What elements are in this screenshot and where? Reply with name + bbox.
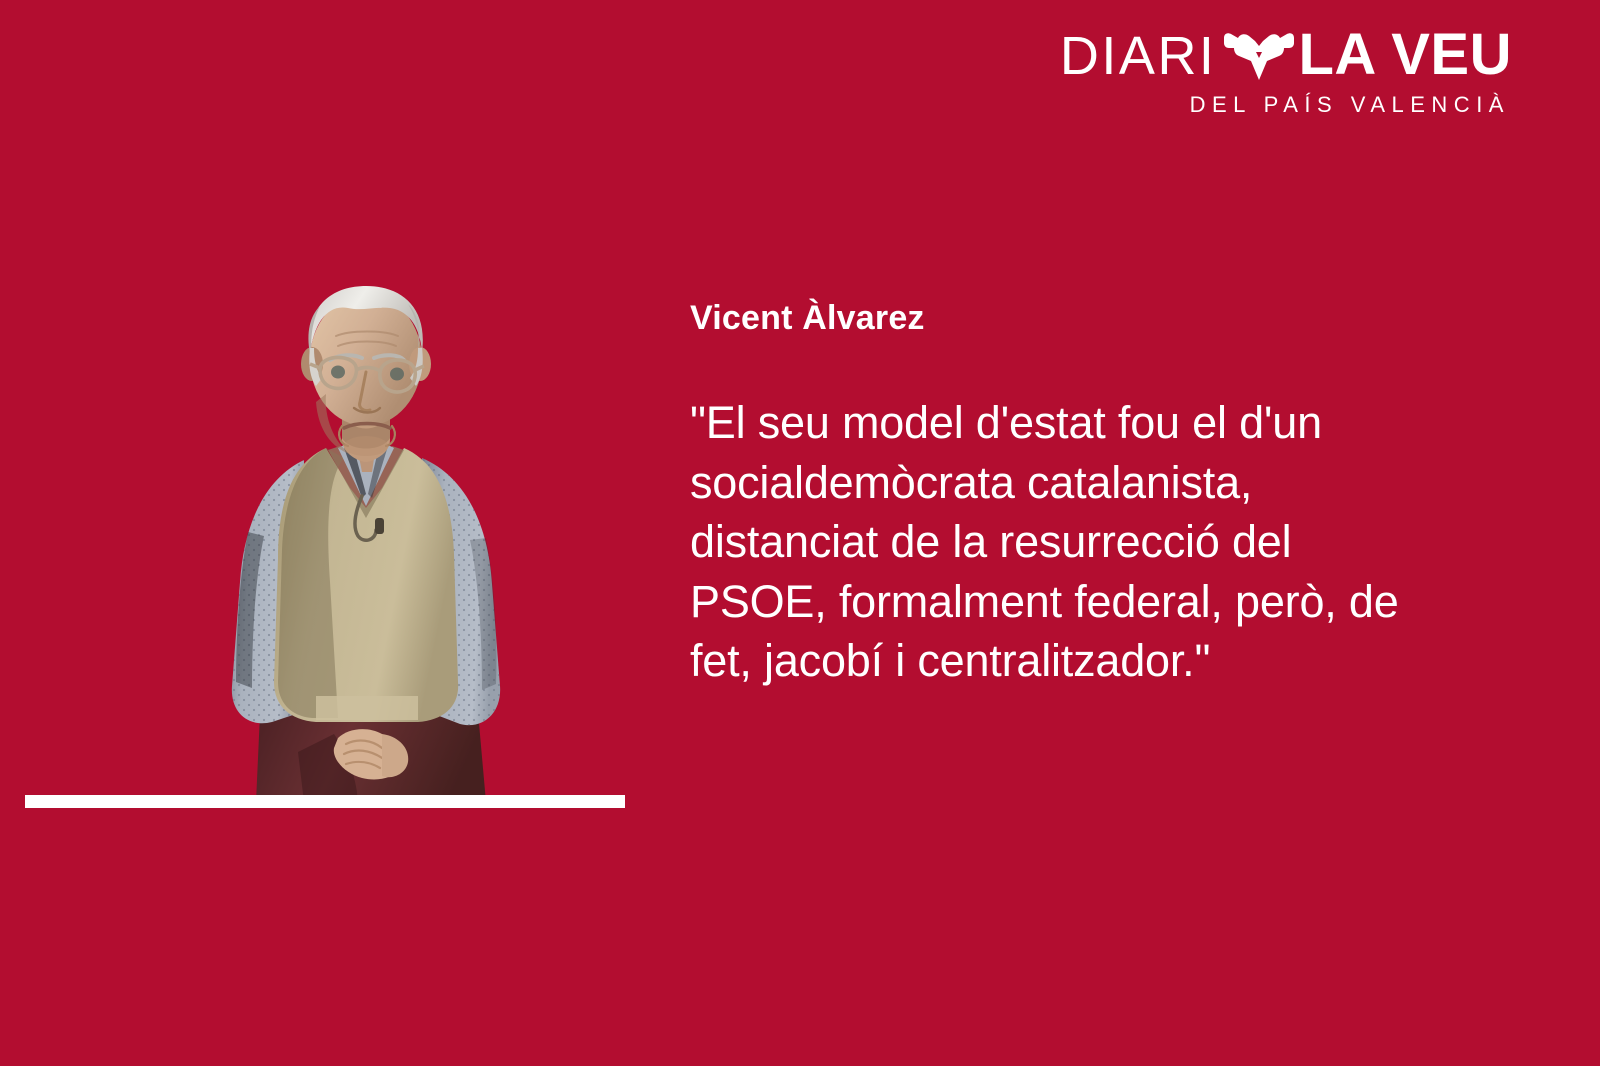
logo-wordmark-row: DIARI LA VEU bbox=[992, 24, 1512, 86]
portrait-illustration bbox=[186, 282, 546, 802]
speaker-name: Vicent Àlvarez bbox=[690, 300, 1410, 337]
logo-word-diari: DIARI bbox=[1060, 29, 1217, 83]
bat-bird-icon bbox=[1222, 28, 1296, 82]
quote-card: DIARI LA VEU DEL PAÍS VALENCIÀ bbox=[0, 0, 1600, 1066]
portrait-photo bbox=[186, 282, 546, 802]
logo-subtitle: DEL PAÍS VALENCIÀ bbox=[992, 92, 1512, 118]
quote-text-block: Vicent Àlvarez "El seu model d'estat fou… bbox=[690, 300, 1410, 690]
quote-body: "El seu model d'estat fou el d'un social… bbox=[690, 393, 1400, 690]
logo-word-laveu: LA VEU bbox=[1298, 26, 1512, 84]
white-underline-bar bbox=[25, 795, 625, 808]
site-logo[interactable]: DIARI LA VEU DEL PAÍS VALENCIÀ bbox=[992, 24, 1512, 132]
